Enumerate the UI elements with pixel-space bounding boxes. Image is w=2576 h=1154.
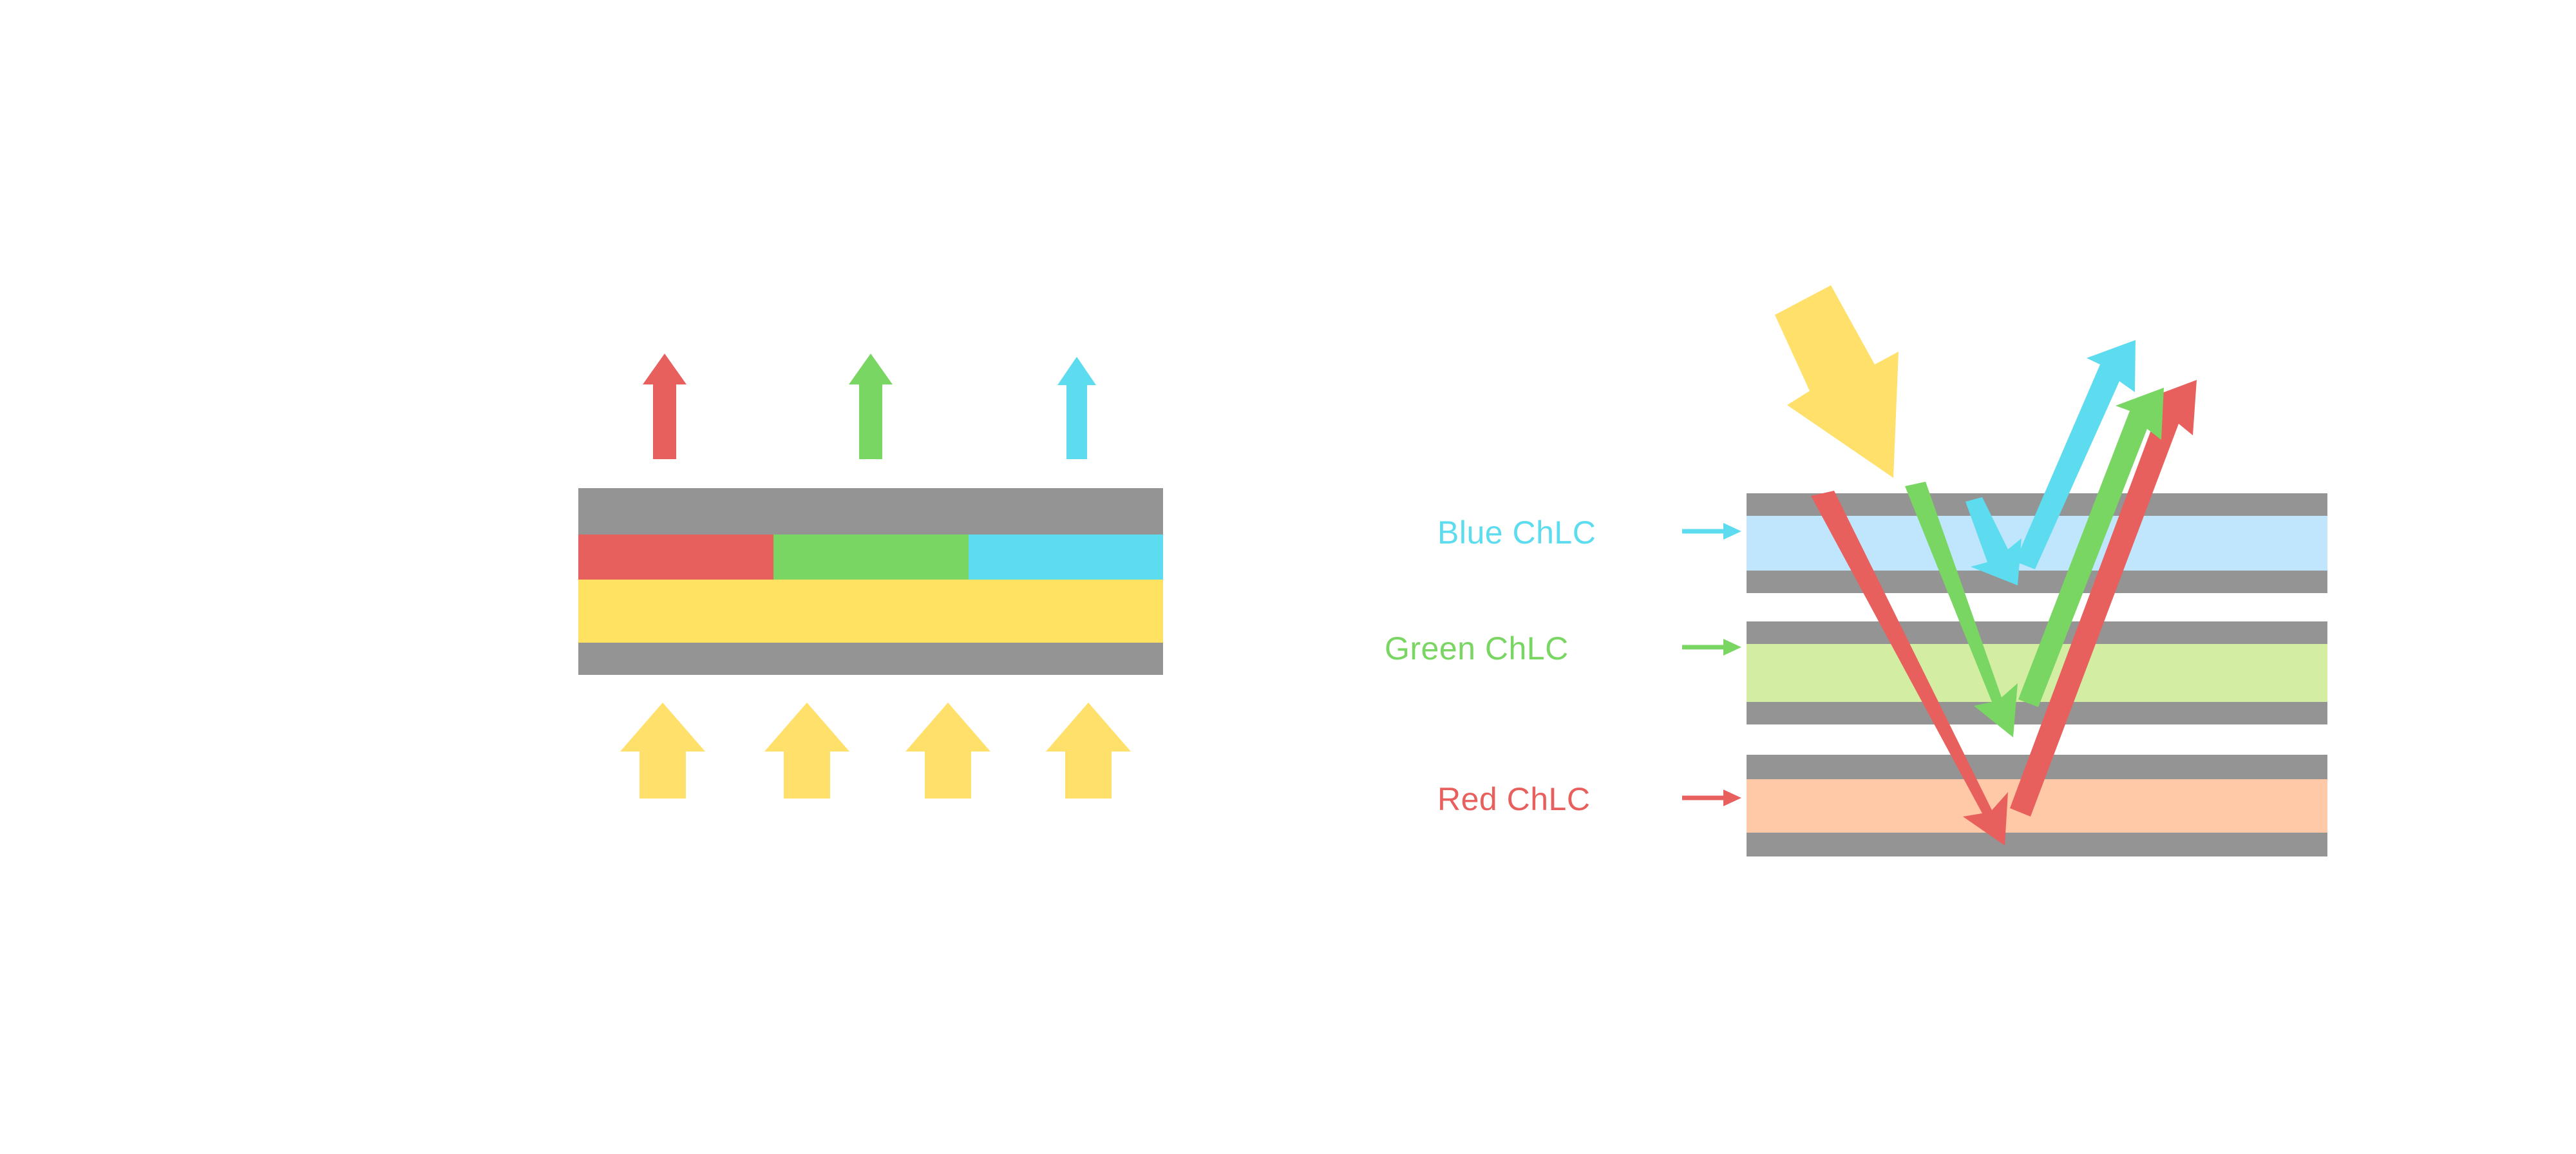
red-reflected-ray: [2010, 380, 2197, 817]
red-label-pointer-icon: [1682, 790, 1741, 806]
ray-arrows-group: [0, 0, 2576, 1154]
blue-chlc-label: Blue ChLC: [1437, 514, 1596, 551]
green-chlc-label: Green ChLC: [1385, 630, 1569, 667]
blue-incident-ray: [1965, 497, 2022, 585]
blue-label-pointer-icon: [1682, 523, 1741, 540]
green-label-pointer-icon: [1682, 639, 1741, 656]
ambient-light-arrow: [1775, 285, 1899, 478]
diagram-canvas: Blue ChLC Green ChLC Red ChLC: [0, 0, 2576, 1154]
red-chlc-label: Red ChLC: [1437, 780, 1590, 818]
